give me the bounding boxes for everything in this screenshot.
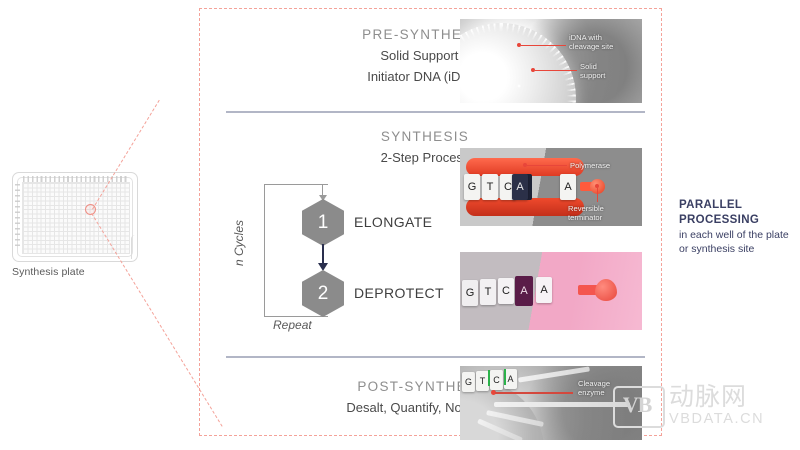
step-2-label: DEPROTECT bbox=[354, 285, 444, 301]
vbdata-watermark: VB 动脉网 VBDATA.CN bbox=[613, 384, 791, 430]
callout-idna-line-1: iDNA with bbox=[569, 33, 613, 42]
elongate-photo: G T C A A Polymerase Reversible terminat… bbox=[460, 148, 642, 226]
parallel-title-line-1: PARALLEL bbox=[679, 198, 797, 213]
section-pre-synthesis: PRE-SYNTHESIS Solid Support + Initiator … bbox=[200, 9, 663, 112]
synthesis-plate-panel: Synthesis plate bbox=[8, 172, 148, 282]
callout-idna-line-2: cleavage site bbox=[569, 42, 613, 51]
callout-lead-terminator bbox=[597, 188, 598, 202]
synthesis-title: SYNTHESIS bbox=[210, 127, 640, 147]
parallel-processing-subtitle: in each well of the plate or synthesis s… bbox=[679, 229, 797, 257]
callout-support-line-2: support bbox=[580, 71, 605, 80]
watermark-chinese-text: 动脉网 bbox=[669, 384, 747, 409]
pre-synthesis-photo: iDNA with cleavage site Solid support bbox=[460, 19, 642, 103]
detail-panel: PRE-SYNTHESIS Solid Support + Initiator … bbox=[199, 8, 662, 436]
cleavage-enzyme-lead bbox=[495, 392, 573, 394]
callout-idna: iDNA with cleavage site bbox=[569, 33, 613, 52]
polymerase-barrel-bottom bbox=[466, 198, 584, 216]
callout-cleavage-line-2: enzyme bbox=[578, 388, 610, 397]
callout-support-line-1: Solid bbox=[580, 62, 605, 71]
parallel-sub-line-1: in each well of the plate bbox=[679, 229, 797, 243]
dna-base-g: G bbox=[462, 280, 478, 306]
dna-base-a-incoming: A bbox=[560, 174, 576, 200]
dna-base-g: G bbox=[464, 174, 480, 200]
callout-lead-idna bbox=[521, 45, 566, 46]
plate-row-labels bbox=[15, 184, 20, 250]
parallel-processing-title: PARALLEL PROCESSING bbox=[679, 198, 797, 227]
callout-lead-polymerase bbox=[527, 165, 567, 166]
callout-cleavage-enzyme: Cleavage enzyme bbox=[578, 379, 610, 398]
dna-base-t: T bbox=[482, 174, 498, 200]
repeat-label: Repeat bbox=[273, 318, 312, 332]
plate-corner-notch bbox=[131, 235, 141, 259]
deprotect-photo: G T C A A bbox=[460, 252, 642, 330]
cleavage-marker-right bbox=[504, 369, 506, 385]
dna-base-g: G bbox=[462, 372, 475, 392]
cycle-diagram: 1 2 ELONGATE DEPROTECT n Cycles Repeat bbox=[242, 184, 457, 334]
deprotection-arrow-head bbox=[595, 279, 617, 301]
callout-terminator-line-2: terminator bbox=[568, 213, 604, 222]
infographic-root: Synthesis plate PRE-SYNTHESIS Solid Supp… bbox=[0, 0, 800, 450]
plate-well-grid bbox=[22, 182, 130, 254]
dna-base-a-free: A bbox=[536, 277, 552, 303]
step-transition-arrow-head bbox=[318, 263, 328, 271]
dna-base-c: C bbox=[490, 370, 503, 390]
cleavage-marker-left bbox=[488, 370, 490, 386]
n-cycles-label: n Cycles bbox=[232, 220, 246, 266]
step-1-label: ELONGATE bbox=[354, 214, 432, 230]
callout-solid-support: Solid support bbox=[580, 62, 605, 81]
dna-base-c: C bbox=[498, 278, 514, 304]
callout-cleavage-line-1: Cleavage bbox=[578, 379, 610, 388]
callout-terminator-line-1: Reversible bbox=[568, 204, 604, 213]
parallel-title-line-2: PROCESSING bbox=[679, 213, 797, 228]
callout-terminator: Reversible terminator bbox=[568, 204, 604, 223]
parallel-processing-block: PARALLEL PROCESSING in each well of the … bbox=[679, 198, 797, 257]
callout-lead-support bbox=[535, 70, 577, 71]
watermark-logo-text: VB bbox=[613, 386, 661, 424]
plate-outer-frame bbox=[12, 172, 138, 262]
callout-polymerase: Polymerase bbox=[570, 161, 610, 170]
section-synthesis: SYNTHESIS 2-Step Process 1 2 ELONGATE DE… bbox=[200, 112, 663, 357]
dna-base-a-protected: A bbox=[515, 276, 533, 306]
watermark-latin-text: VBDATA.CN bbox=[669, 411, 764, 427]
released-strand-2 bbox=[494, 402, 630, 407]
dna-base-t: T bbox=[480, 279, 496, 305]
parallel-sub-line-2: or synthesis site bbox=[679, 243, 797, 257]
section-post-synthesis: POST-SYNTHESIS Desalt, Quantify, Normali… bbox=[200, 357, 663, 437]
callout-polymerase-text: Polymerase bbox=[570, 161, 610, 170]
dna-base-a-slot: A bbox=[512, 174, 528, 200]
